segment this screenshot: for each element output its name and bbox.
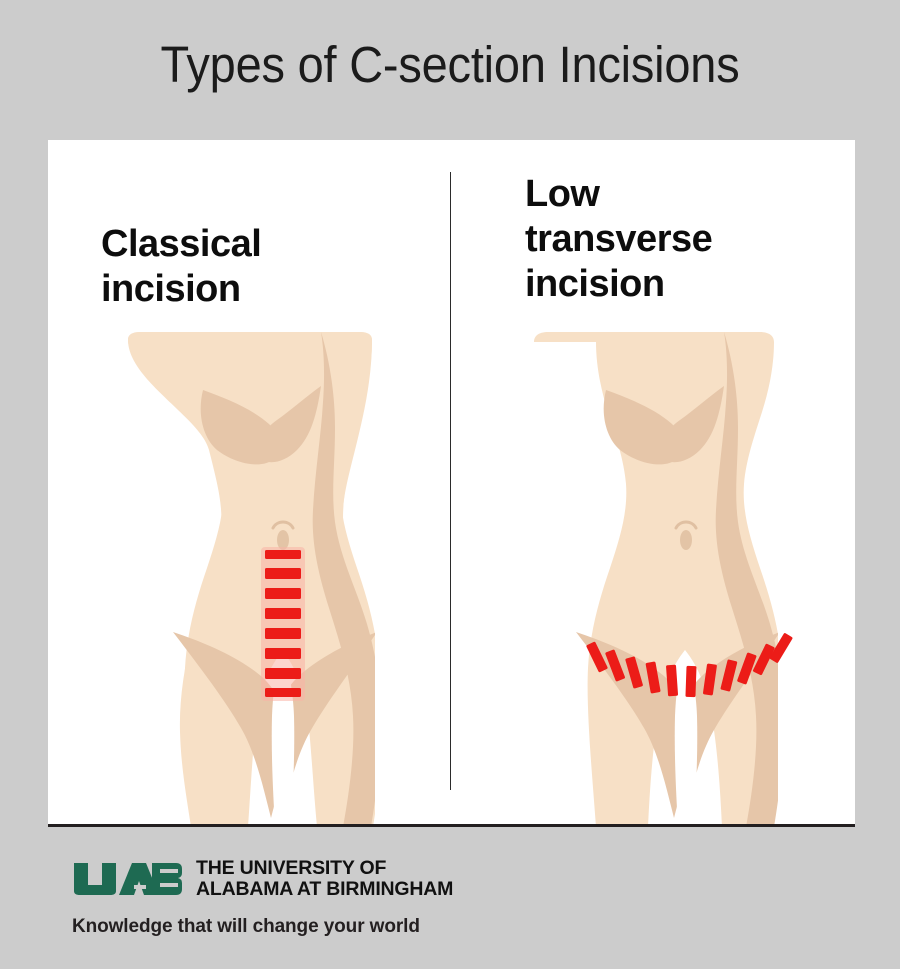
footer: THE UNIVERSITY OF ALABAMA AT BIRMINGHAM …: [0, 840, 900, 969]
heading-classical-incision: Classical incision: [101, 222, 261, 312]
leg-gap: [675, 650, 698, 827]
uab-logo-lockup[interactable]: THE UNIVERSITY OF ALABAMA AT BIRMINGHAM: [72, 858, 453, 899]
panel-bottom-rule: [48, 824, 855, 827]
navel-dimple: [680, 530, 692, 550]
panel-divider: [450, 172, 451, 790]
female-torso-illustration: [534, 332, 784, 827]
page-title: Types of C-section Incisions: [36, 36, 864, 94]
uab-university-name: THE UNIVERSITY OF ALABAMA AT BIRMINGHAM: [196, 858, 453, 899]
figure-low-transverse-incision: [488, 332, 818, 827]
figure-classical-incision: [85, 332, 415, 827]
heading-low-transverse-incision: Low transverse incision: [525, 172, 712, 307]
female-torso-illustration: [128, 332, 384, 827]
uab-logo-icon: [72, 861, 184, 897]
illustration-panel: Classical incision Low transverse incisi…: [48, 140, 855, 827]
leg-gap: [272, 650, 295, 827]
navel-dimple: [277, 530, 289, 550]
uab-tagline: Knowledge that will change your world: [72, 916, 420, 938]
